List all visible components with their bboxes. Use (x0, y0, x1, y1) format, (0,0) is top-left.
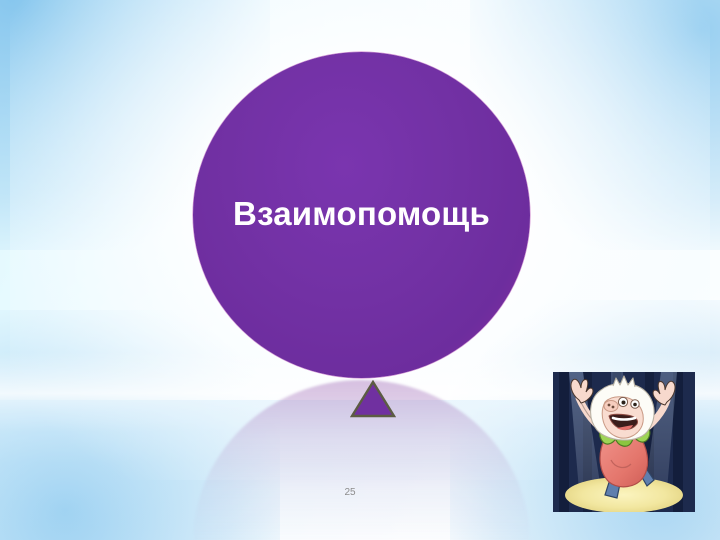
triangle-icon (350, 380, 396, 418)
purple-triangle-shape[interactable] (350, 380, 396, 418)
purple-circle-shape[interactable]: Взаимопомощь (193, 52, 530, 378)
slide-number: 25 (330, 487, 370, 499)
stage-pig-picture[interactable] (553, 372, 695, 512)
presentation-slide: Взаимопомощь (0, 0, 720, 540)
cartoon-pig-illustration (553, 372, 695, 512)
slide-title-text: Взаимопомощь (193, 196, 530, 232)
